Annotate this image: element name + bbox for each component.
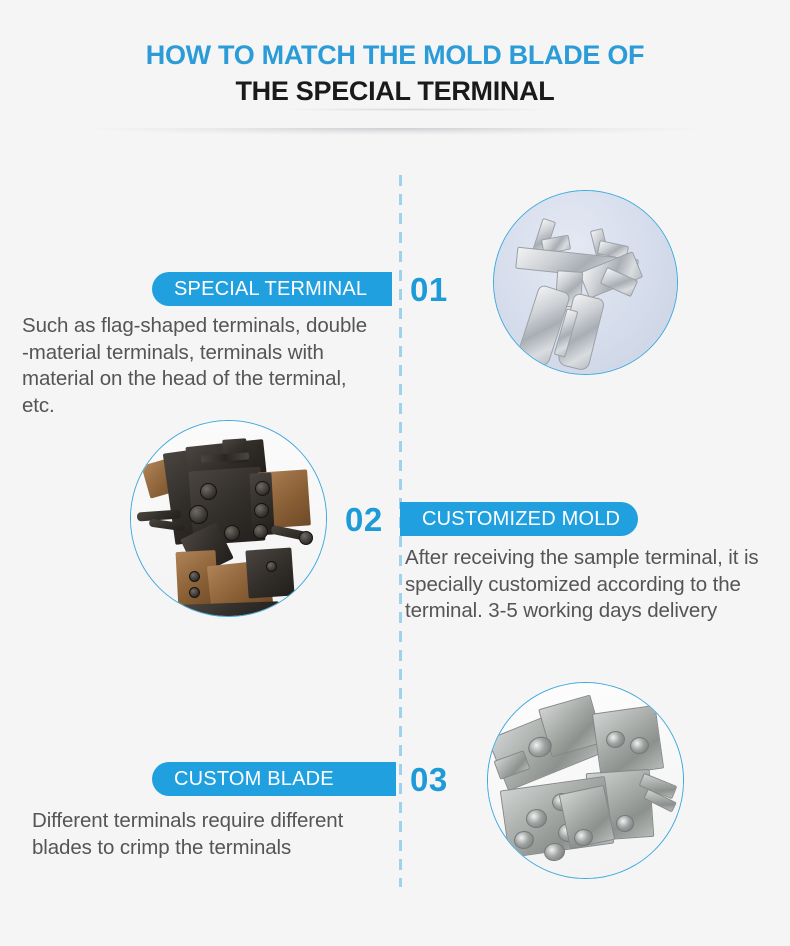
section-body-01-line-2: -material terminals, terminals with bbox=[22, 340, 397, 367]
section-body-01: Such as flag-shaped terminals, double -m… bbox=[22, 313, 397, 419]
page-title-line-1: HOW TO MATCH THE MOLD BLADE OF bbox=[0, 40, 790, 71]
section-body-03-line-2: blades to crimp the terminals bbox=[32, 835, 397, 862]
section-body-01-line-1: Such as flag-shaped terminals, double bbox=[22, 313, 397, 340]
step-number-01: 01 bbox=[410, 271, 448, 309]
section-body-01-line-3: material on the head of the terminal, bbox=[22, 366, 397, 393]
header-separator-shadow bbox=[95, 128, 695, 135]
section-body-03-line-1: Different terminals require different bbox=[32, 808, 397, 835]
section-badge-special-terminal: SPECIAL TERMINAL bbox=[152, 272, 392, 306]
section-body-02: After receiving the sample terminal, it … bbox=[405, 545, 783, 625]
section-badge-custom-blade: CUSTOM BLADE bbox=[152, 762, 396, 796]
section-body-03: Different terminals require different bl… bbox=[32, 808, 397, 861]
section-body-02-line-2: specially customized according to the bbox=[405, 572, 783, 599]
flag-shaped-terminal-photo bbox=[493, 190, 678, 375]
section-badge-label: CUSTOMIZED MOLD bbox=[422, 508, 620, 531]
page-header: HOW TO MATCH THE MOLD BLADE OF THE SPECI… bbox=[0, 0, 790, 130]
step-number-03: 03 bbox=[410, 761, 448, 799]
infographic-page: HOW TO MATCH THE MOLD BLADE OF THE SPECI… bbox=[0, 0, 790, 946]
crimping-mold-photo bbox=[130, 420, 327, 617]
step-number-02: 02 bbox=[345, 501, 383, 539]
section-badge-customized-mold: CUSTOMIZED MOLD bbox=[400, 502, 638, 536]
section-badge-label: CUSTOM BLADE bbox=[174, 768, 334, 791]
section-badge-label: SPECIAL TERMINAL bbox=[174, 278, 367, 301]
page-title-line-2: THE SPECIAL TERMINAL bbox=[0, 76, 790, 107]
section-body-02-line-3: terminal. 3-5 working days delivery bbox=[405, 598, 783, 625]
custom-blade-photo bbox=[487, 682, 684, 879]
section-body-01-line-4: etc. bbox=[22, 393, 397, 420]
header-shadow-thin bbox=[280, 108, 550, 111]
section-body-02-line-1: After receiving the sample terminal, it … bbox=[405, 545, 783, 572]
